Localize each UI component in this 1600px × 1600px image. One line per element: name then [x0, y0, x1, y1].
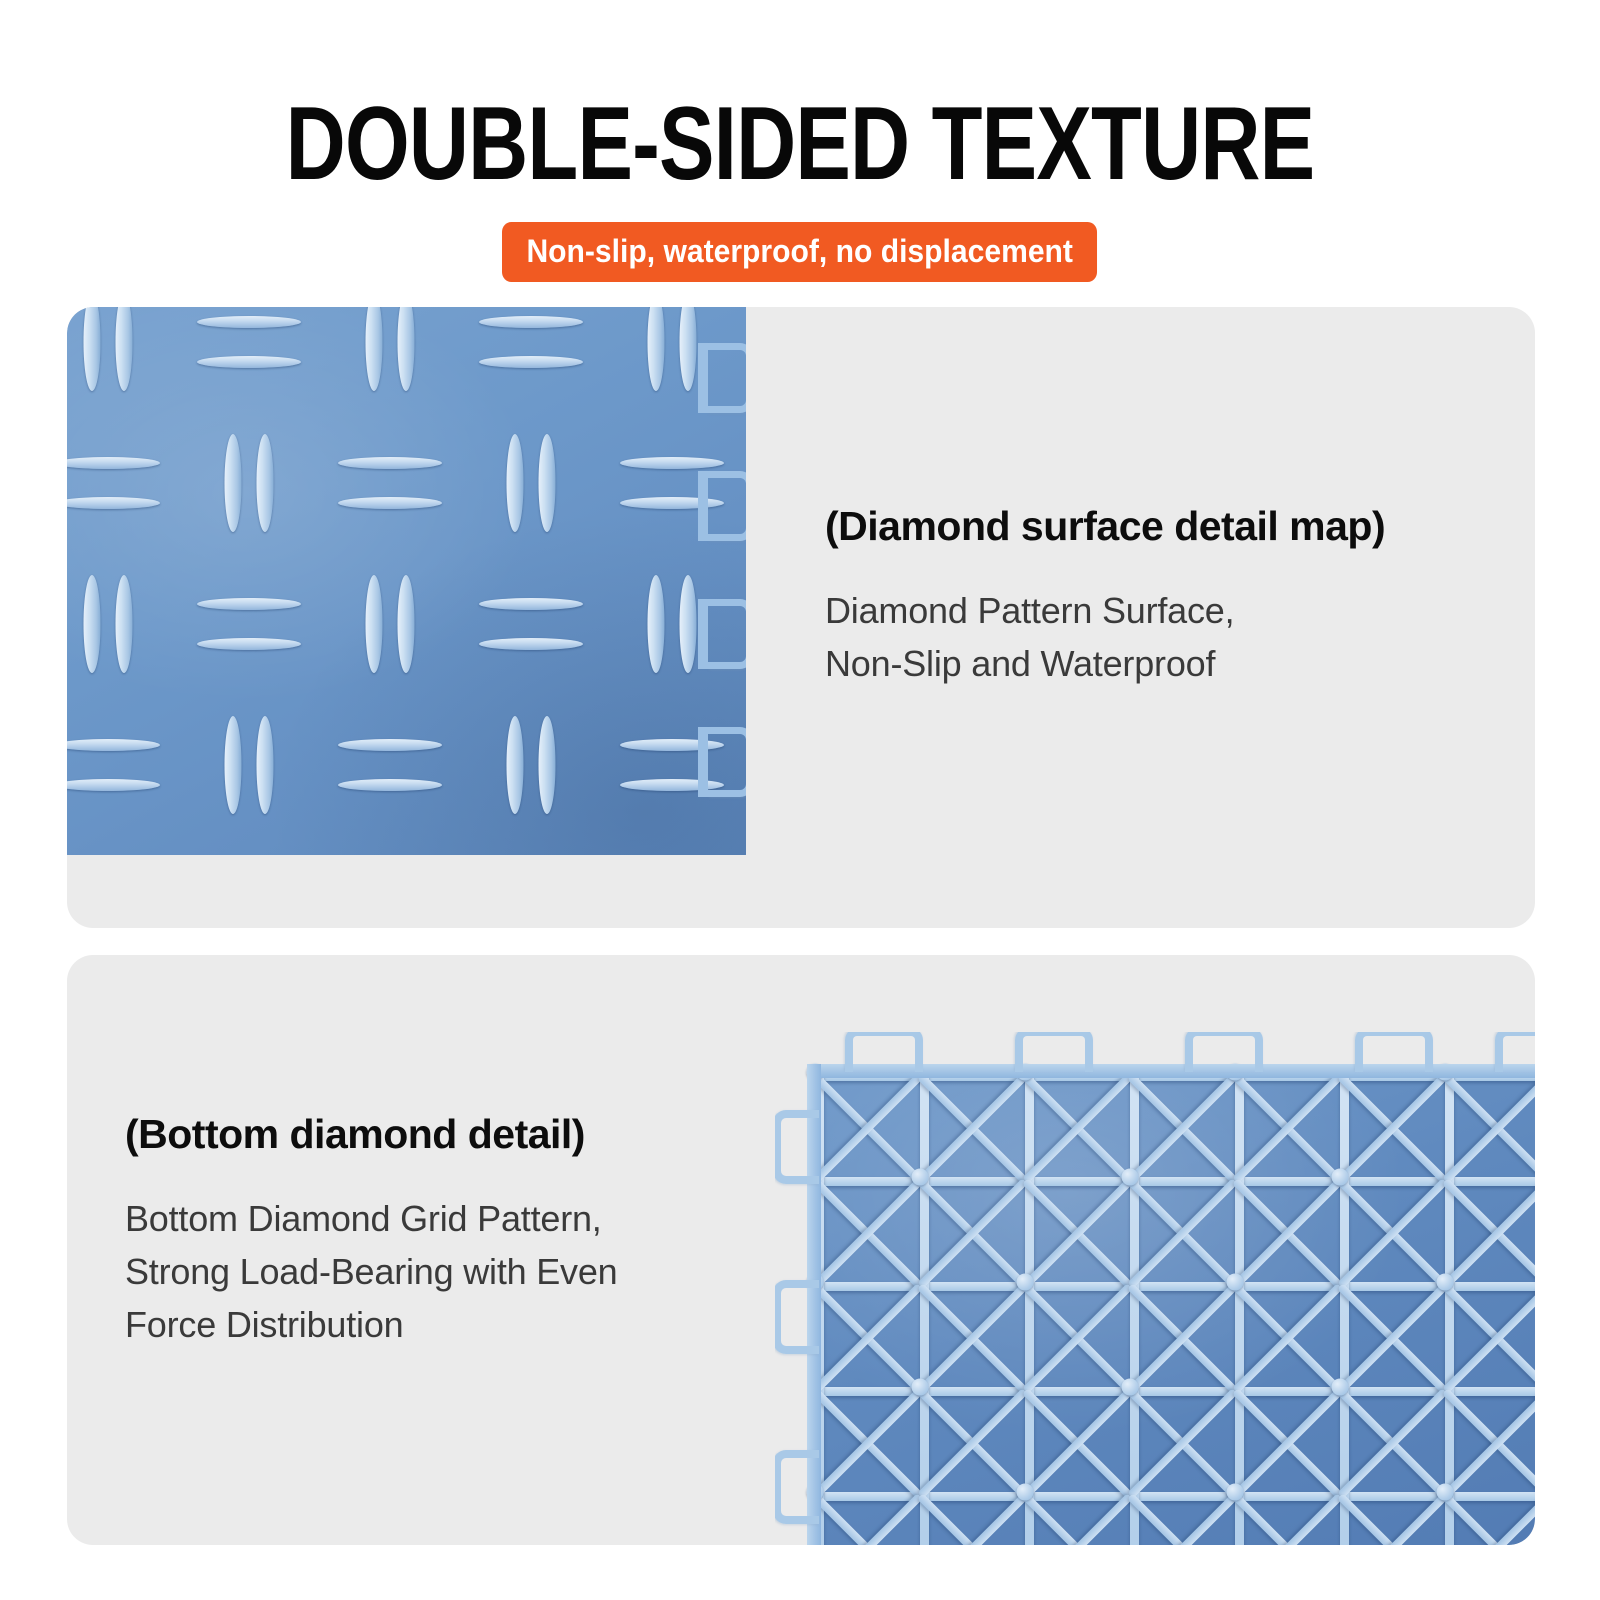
- grid-nub: [1332, 1379, 1349, 1396]
- grid-nub: [1227, 1274, 1244, 1291]
- plate-lens-vertical: [365, 307, 382, 391]
- plate-lens-vertical: [647, 575, 664, 673]
- plate-lens-horizontal: [197, 598, 301, 610]
- plate-lens-vertical: [224, 716, 241, 814]
- grid-rib-vertical: [1235, 1072, 1244, 1545]
- grid-nub: [912, 1169, 929, 1186]
- connector-tab-icon: [1355, 1032, 1433, 1072]
- connector-tab-icon: [775, 1280, 819, 1354]
- plate-lens-horizontal: [67, 779, 160, 791]
- grid-nub: [1017, 1274, 1034, 1291]
- plate-lens-horizontal: [197, 638, 301, 650]
- bottom-grid-underside-photo: [775, 1032, 1535, 1545]
- plate-lens-vertical: [679, 575, 696, 673]
- plate-lens-horizontal: [197, 356, 301, 368]
- plate-lens-vertical: [115, 575, 132, 673]
- connector-tab-icon: [775, 1110, 819, 1184]
- panel-bottom-grid: (Bottom diamond detail) Bottom Diamond G…: [67, 955, 1535, 1545]
- connector-tab-icon: [1185, 1032, 1263, 1072]
- plate-lens-vertical: [397, 575, 414, 673]
- subtitle-badge: Non-slip, waterproof, no displacement: [502, 222, 1097, 282]
- plate-lens-horizontal: [338, 497, 442, 509]
- grid-nub: [1437, 1274, 1454, 1291]
- plate-lens-horizontal: [479, 316, 583, 328]
- plate-lens-horizontal: [67, 457, 160, 469]
- connector-tab-icon: [1495, 1032, 1535, 1072]
- grid-background: [815, 1072, 1535, 1545]
- connector-tab-icon: [775, 1450, 819, 1524]
- grid-rib-vertical: [1025, 1072, 1034, 1545]
- plate-lens-horizontal: [338, 457, 442, 469]
- plate-lens-vertical: [115, 307, 132, 391]
- connector-tab-icon: [1015, 1032, 1093, 1072]
- diamond-surface-body: Diamond Pattern Surface, Non-Slip and Wa…: [825, 584, 1485, 690]
- plate-lens-vertical: [83, 307, 100, 391]
- bottom-grid-info: (Bottom diamond detail) Bottom Diamond G…: [125, 1110, 765, 1351]
- plate-lens-horizontal: [479, 598, 583, 610]
- plate-lens-horizontal: [479, 356, 583, 368]
- plate-lens-vertical: [365, 575, 382, 673]
- plate-lens-horizontal: [67, 739, 160, 751]
- diamond-surface-info: (Diamond surface detail map) Diamond Pat…: [825, 502, 1485, 690]
- plate-lens-vertical: [83, 575, 100, 673]
- connector-tab-icon: [708, 599, 746, 669]
- plate-lens-vertical: [538, 434, 555, 532]
- bottom-grid-body: Bottom Diamond Grid Pattern, Strong Load…: [125, 1192, 765, 1351]
- plate-lens-vertical: [397, 307, 414, 391]
- plate-lens-horizontal: [620, 457, 724, 469]
- plate-lens-horizontal: [479, 638, 583, 650]
- connector-tab-icon: [708, 471, 746, 541]
- grid-nub: [1227, 1484, 1244, 1501]
- plate-lens-vertical: [256, 716, 273, 814]
- plate-lens-horizontal: [197, 316, 301, 328]
- grid-rib-vertical: [920, 1072, 929, 1545]
- grid-nub: [1017, 1484, 1034, 1501]
- plate-lens-vertical: [256, 434, 273, 532]
- grid-rib-vertical: [1445, 1072, 1454, 1545]
- grid-nub: [1332, 1169, 1349, 1186]
- plate-lens-horizontal: [338, 779, 442, 791]
- bottom-grid-heading: (Bottom diamond detail): [125, 1110, 765, 1158]
- grid-lattice: [815, 1072, 1535, 1545]
- plate-lens-horizontal: [338, 739, 442, 751]
- connector-tab-icon: [845, 1032, 923, 1072]
- badge-container: Non-slip, waterproof, no displacement: [0, 222, 1600, 282]
- diamond-plate-pattern: [67, 307, 746, 855]
- grid-rib-vertical: [1130, 1072, 1139, 1545]
- plate-lens-horizontal: [67, 497, 160, 509]
- plate-lens-vertical: [647, 307, 664, 391]
- plate-lens-vertical: [538, 716, 555, 814]
- diamond-plate-surface-photo: [67, 307, 746, 855]
- grid-nub: [1122, 1169, 1139, 1186]
- connector-tab-icon: [708, 343, 746, 413]
- plate-lens-vertical: [506, 716, 523, 814]
- diamond-surface-heading: (Diamond surface detail map): [825, 502, 1485, 550]
- page-title: DOUBLE-SIDED TEXTURE: [160, 92, 1440, 196]
- grid-rib-vertical: [1340, 1072, 1349, 1545]
- grid-nub: [912, 1379, 929, 1396]
- header: DOUBLE-SIDED TEXTURE Non-slip, waterproo…: [0, 0, 1600, 300]
- panel-diamond-surface: (Diamond surface detail map) Diamond Pat…: [67, 307, 1535, 928]
- plate-lens-vertical: [506, 434, 523, 532]
- plate-lens-vertical: [679, 307, 696, 391]
- grid-nub: [1437, 1484, 1454, 1501]
- connector-tab-icon: [708, 727, 746, 797]
- grid-nub: [1122, 1379, 1139, 1396]
- plate-lens-vertical: [224, 434, 241, 532]
